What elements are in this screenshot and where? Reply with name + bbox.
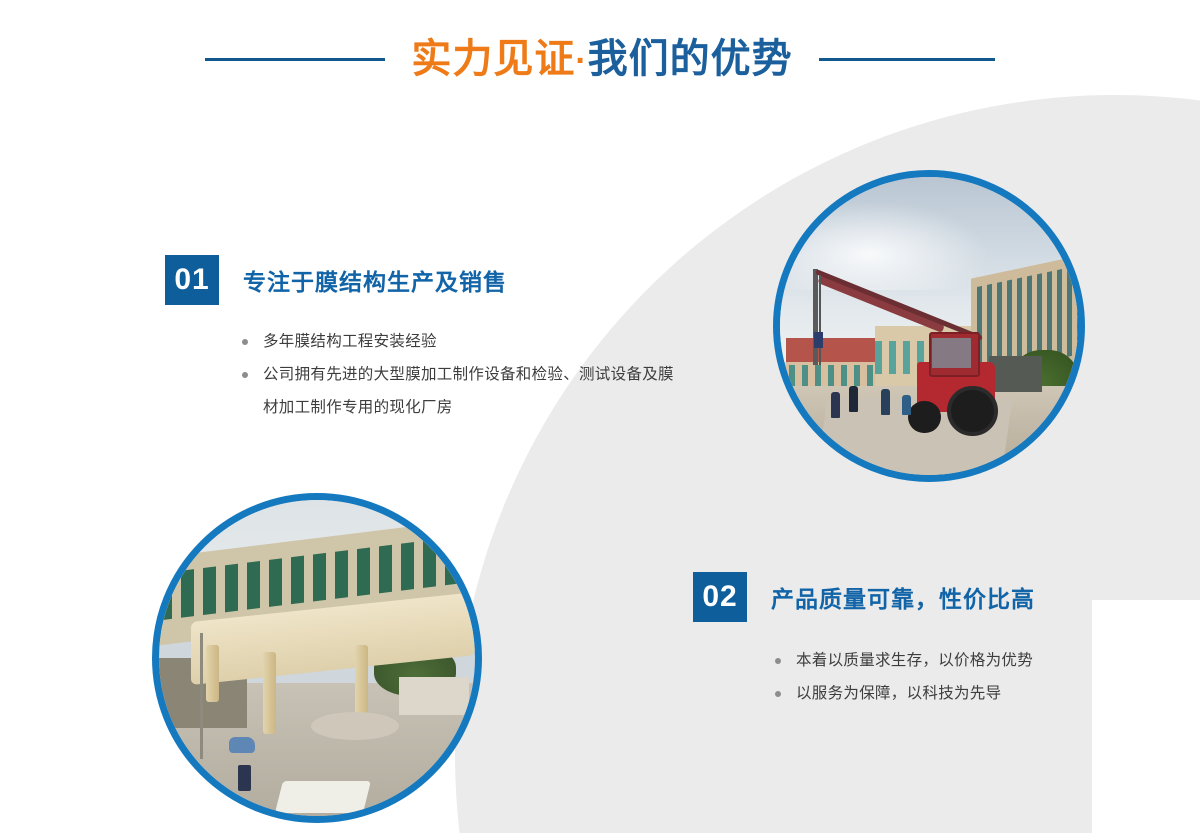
photo-crane-tractor-scene — [780, 177, 1078, 475]
photo-membrane-canopy-scene — [159, 500, 475, 816]
crane-hook — [814, 332, 823, 348]
worker-figure — [849, 386, 858, 412]
tractor-rear-wheel — [947, 386, 998, 437]
building-red-roof — [786, 338, 881, 365]
feature-02-title: 产品质量可靠，性价比高 — [771, 580, 1035, 614]
worker-figure — [902, 395, 911, 415]
worker-figure — [831, 392, 840, 418]
feature-02-number-badge: 02 — [693, 572, 747, 622]
photo-membrane-canopy — [152, 493, 482, 823]
feature-01-title: 专注于膜结构生产及销售 — [243, 263, 507, 297]
rule-right-line — [819, 58, 995, 61]
photo-crane-tractor — [773, 170, 1085, 482]
feature-block-01: 01 专注于膜结构生产及销售 多年膜结构工程安装经验 公司拥有先进的大型膜加工制… — [165, 255, 685, 424]
feature-01-bullet-list: 多年膜结构工程安装经验 公司拥有先进的大型膜加工制作设备和检验、测试设备及膜材加… — [165, 325, 685, 424]
feature-02-bullet-list: 本着以质量求生存，以价格为优势 以服务为保障，以科技为先导 — [693, 644, 1123, 710]
crane-cable — [819, 275, 821, 364]
tractor-front-wheel — [908, 401, 941, 434]
page-title-orange: 实力见证 — [411, 37, 575, 81]
canopy-column — [206, 645, 219, 702]
feature-02-heading: 02 产品质量可靠，性价比高 — [693, 572, 1123, 622]
scaffold-pole — [200, 633, 203, 759]
concrete-slab — [399, 677, 469, 715]
crane-mast — [813, 269, 818, 364]
feature-01-number-badge: 01 — [165, 255, 219, 305]
canopy-column — [263, 652, 276, 734]
tractor-cab-window — [932, 338, 971, 368]
list-item: 多年膜结构工程安装经验 — [242, 325, 685, 358]
rule-left-line — [205, 58, 385, 61]
list-item: 以服务为保障，以科技为先导 — [775, 677, 1123, 710]
list-item: 本着以质量求生存，以价格为优势 — [775, 644, 1123, 677]
feature-01-heading: 01 专注于膜结构生产及销售 — [165, 255, 685, 305]
worker-figure-legs — [238, 765, 251, 791]
promo-banner: 实力见证·我们的优势 — [0, 0, 1200, 833]
page-title-blue: 我们的优势 — [588, 37, 793, 81]
list-item: 公司拥有先进的大型膜加工制作设备和检验、测试设备及膜材加工制作专用的现化厂房 — [242, 358, 685, 424]
trailer — [989, 356, 1043, 392]
feature-block-02: 02 产品质量可靠，性价比高 本着以质量求生存，以价格为优势 以服务为保障，以科… — [693, 572, 1123, 710]
page-title-separator-dot: · — [575, 42, 587, 80]
page-title: 实力见证·我们的优势 — [411, 39, 792, 79]
cloud — [780, 201, 989, 290]
rubble-pile — [311, 712, 399, 740]
worker-figure-torso — [229, 737, 255, 753]
worker-figure — [881, 389, 890, 415]
membrane-tarp — [275, 781, 371, 813]
section-header: 实力见证·我们的优势 — [0, 28, 1200, 90]
building-red-windows — [789, 365, 878, 386]
